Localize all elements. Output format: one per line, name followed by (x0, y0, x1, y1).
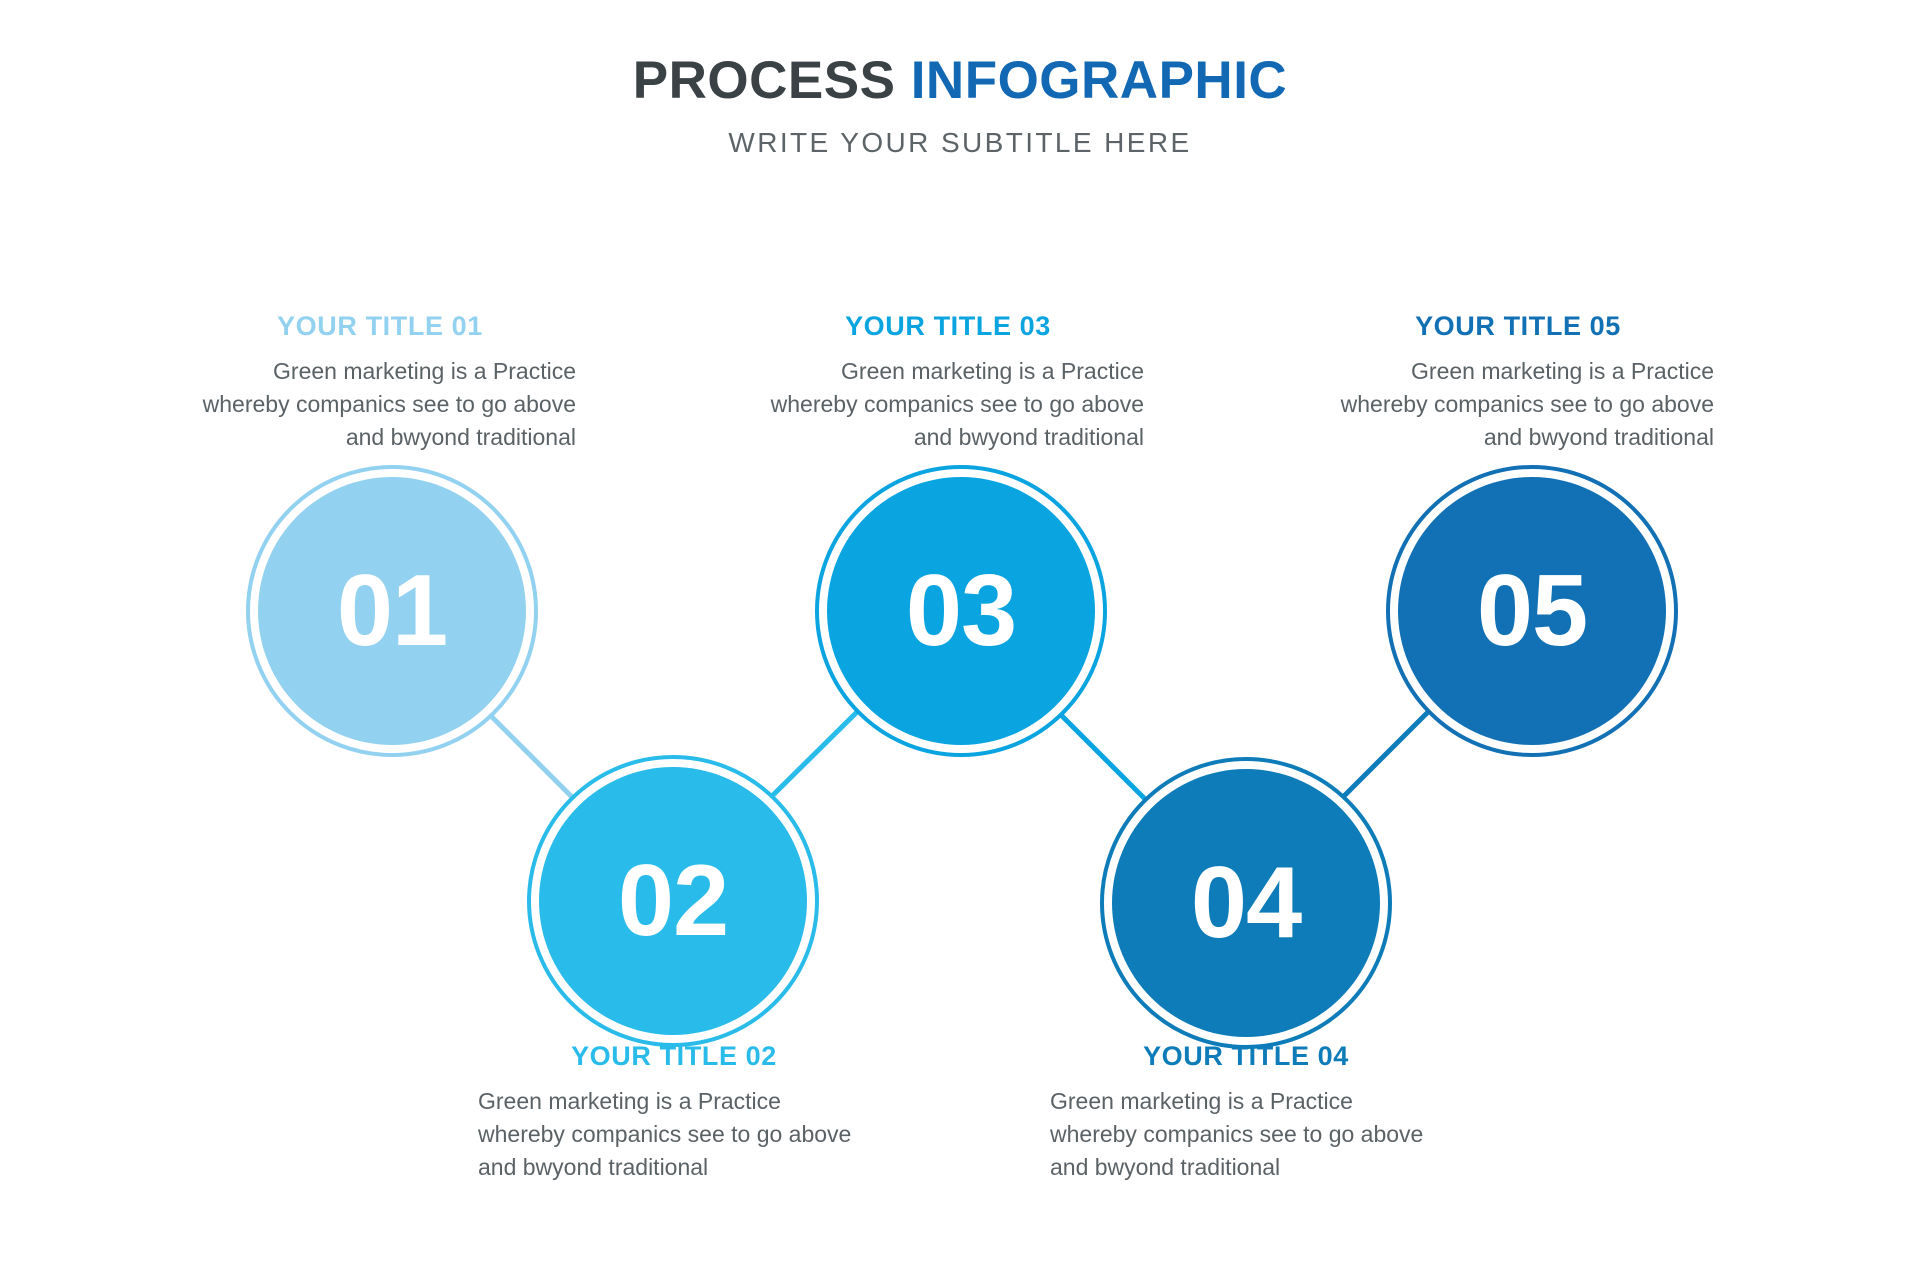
step-body-04: Green marketing is a Practice whereby co… (1050, 1085, 1442, 1183)
step-circle-01-fill: 01 (258, 477, 526, 745)
page-title: PROCESS INFOGRAPHIC (0, 52, 1920, 110)
step-number-04: 04 (1191, 853, 1301, 954)
step-circle-04[interactable]: 04 (1100, 757, 1392, 1049)
connector-01-02 (487, 712, 575, 800)
page-title-secondary: INFOGRAPHIC (911, 51, 1288, 110)
step-circle-02[interactable]: 02 (527, 755, 819, 1047)
connector-02-03 (768, 711, 858, 800)
step-title-01: YOUR TITLE 01 (184, 310, 576, 342)
step-circle-03-fill: 03 (827, 477, 1095, 745)
step-circle-04-fill: 04 (1112, 769, 1380, 1037)
step-number-05: 05 (1477, 561, 1587, 662)
step-title-05: YOUR TITLE 05 (1322, 310, 1714, 342)
step-body-01: Green marketing is a Practice whereby co… (184, 355, 576, 453)
page-title-primary: PROCESS (633, 51, 896, 110)
step-body-05: Green marketing is a Practice whereby co… (1322, 355, 1714, 453)
step-number-01: 01 (337, 561, 447, 662)
infographic-canvas: PROCESS INFOGRAPHIC WRITE YOUR SUBTITLE … (0, 0, 1920, 1280)
step-text-block-01: YOUR TITLE 01 Green marketing is a Pract… (184, 310, 576, 453)
step-circle-05[interactable]: 05 (1386, 465, 1678, 757)
connector-04-05 (1339, 712, 1428, 801)
step-body-03: Green marketing is a Practice whereby co… (752, 355, 1144, 453)
step-number-03: 03 (906, 561, 1016, 662)
step-body-02: Green marketing is a Practice whereby co… (478, 1085, 870, 1183)
step-circle-01[interactable]: 01 (246, 465, 538, 757)
step-title-04: YOUR TITLE 04 (1050, 1040, 1442, 1072)
step-circle-05-fill: 05 (1398, 477, 1666, 745)
step-number-02: 02 (618, 851, 728, 952)
connector-03-04 (1057, 711, 1148, 802)
page-subtitle: WRITE YOUR SUBTITLE HERE (0, 127, 1920, 159)
step-circle-03[interactable]: 03 (815, 465, 1107, 757)
step-text-block-02: YOUR TITLE 02 Green marketing is a Pract… (478, 1040, 870, 1183)
step-circle-02-fill: 02 (539, 767, 807, 1035)
step-title-03: YOUR TITLE 03 (752, 310, 1144, 342)
step-title-02: YOUR TITLE 02 (478, 1040, 870, 1072)
header: PROCESS INFOGRAPHIC WRITE YOUR SUBTITLE … (0, 52, 1920, 159)
step-text-block-04: YOUR TITLE 04 Green marketing is a Pract… (1050, 1040, 1442, 1183)
step-text-block-05: YOUR TITLE 05 Green marketing is a Pract… (1322, 310, 1714, 453)
step-text-block-03: YOUR TITLE 03 Green marketing is a Pract… (752, 310, 1144, 453)
